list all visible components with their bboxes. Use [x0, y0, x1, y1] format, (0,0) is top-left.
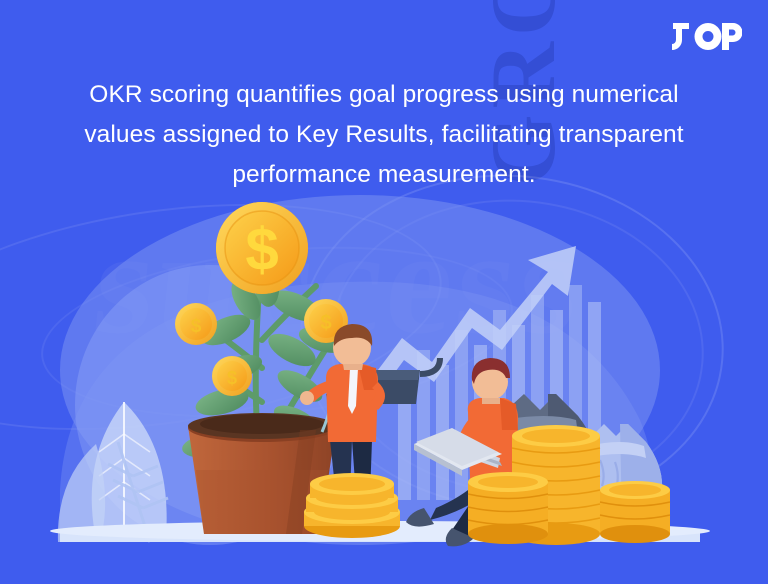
jop-logo[interactable]: JOP [672, 20, 742, 54]
coin-stack-short [600, 481, 670, 543]
jop-logo-icon [672, 22, 742, 52]
big-dollar-coin-label: $ [245, 216, 278, 283]
page-title: OKR scoring quantifies goal progress usi… [59, 75, 709, 195]
small-coin-right-label: $ [320, 312, 331, 334]
coin-stack-under-man [304, 473, 400, 538]
small-coin-left: $ [175, 303, 217, 345]
small-coin-left-label: $ [191, 316, 202, 337]
headline-line-3: performance measurement. [59, 155, 709, 195]
small-coin-middle: $ [212, 356, 252, 396]
small-coin-middle-label: $ [227, 368, 237, 388]
illustration-svg: $ $ $ $ [0, 190, 768, 584]
slide-canvas: success GROWTH JOP OKR scoring quantifie… [0, 0, 768, 584]
headline-line-1: OKR scoring quantifies goal progress usi… [59, 75, 709, 115]
big-dollar-coin: $ [216, 202, 308, 294]
money-plant-growth-illustration: $ $ $ $ [0, 190, 768, 584]
headline-line-2: values assigned to Key Results, facilita… [59, 115, 709, 155]
